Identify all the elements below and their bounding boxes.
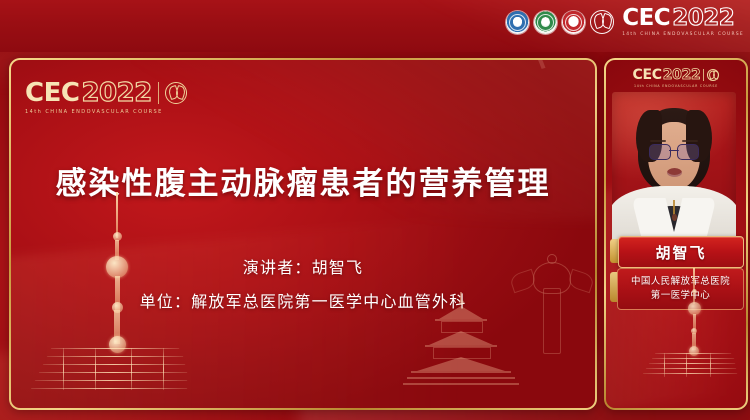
top-header-bar: CEC 2022 14th CHINA ENDOVASCULAR COURSE <box>0 0 750 52</box>
speaker-brow-left <box>650 140 666 142</box>
speaker-panel: CEC 2022 14th CHINA ENDOVASCULAR COURSE <box>606 60 746 408</box>
broadcast-stage: CEC 2022 14th CHINA ENDOVASCULAR COURSE … <box>0 0 750 420</box>
speaker-glasses-icon <box>649 144 699 158</box>
speaker-affiliation-line-2: 第一医学中心 <box>651 290 710 303</box>
slide-title: 感染性腹主动脉瘤患者的营养管理 <box>11 158 595 203</box>
institution-seal-red-icon <box>562 11 585 34</box>
cec-petal-emblem-icon <box>590 10 614 34</box>
header-subtitle: 14th CHINA ENDOVASCULAR COURSE <box>622 32 744 37</box>
panel-logo-divider <box>703 69 704 81</box>
slide-logo-subtitle: 14th CHINA ENDOVASCULAR COURSE <box>25 109 187 115</box>
panel-cec-logo: CEC 2022 14th CHINA ENDOVASCULAR COURSE <box>606 68 746 88</box>
speaker-mouth <box>667 168 682 177</box>
speaker-pendant <box>672 214 677 221</box>
speaker-panel-frame[interactable]: CEC 2022 14th CHINA ENDOVASCULAR COURSE <box>604 58 748 410</box>
institution-seal-green-icon <box>534 11 557 34</box>
speaker-name-plate: 胡智飞 <box>610 236 742 266</box>
header-cec-logo: CEC 2022 14th CHINA ENDOVASCULAR COURSE <box>622 7 744 37</box>
header-cec-text: CEC <box>622 7 670 30</box>
panel-cec-text: CEC <box>633 68 662 82</box>
cec-petal-emblem-icon <box>165 82 187 104</box>
header-brand-row: CEC 2022 14th CHINA ENDOVASCULAR COURSE <box>506 7 744 37</box>
panel-year-text: 2022 <box>663 68 701 82</box>
speaker-name: 胡智飞 <box>655 242 706 263</box>
slide-presenter: 演讲者：胡智飞 <box>11 254 595 278</box>
presentation-slide: CEC 2022 14th CHINA ENDOVASCULAR COURSE … <box>11 60 595 408</box>
institution-seal-blue-icon <box>506 11 529 34</box>
slide-cec-text: CEC <box>25 80 79 106</box>
speaker-video-feed[interactable] <box>612 92 736 244</box>
slide-affiliation: 单位：解放军总医院第一医学中心血管外科 <box>11 288 595 312</box>
speaker-affiliation-line-1: 中国人民解放军总医院 <box>631 276 730 289</box>
speaker-affiliation-plate: 中国人民解放军总医院 第一医学中心 <box>610 268 742 308</box>
slide-logo-divider <box>158 82 159 104</box>
panel-logo-subtitle: 14th CHINA ENDOVASCULAR COURSE <box>634 84 718 88</box>
header-year-text: 2022 <box>672 7 734 30</box>
cec-petal-emblem-icon <box>707 69 719 81</box>
slide-year-text: 2022 <box>81 80 151 106</box>
presentation-slide-frame[interactable]: CEC 2022 14th CHINA ENDOVASCULAR COURSE … <box>9 58 597 410</box>
speaker-brow-right <box>682 140 698 142</box>
slide-cec-logo: CEC 2022 14th CHINA ENDOVASCULAR COURSE <box>25 80 187 115</box>
